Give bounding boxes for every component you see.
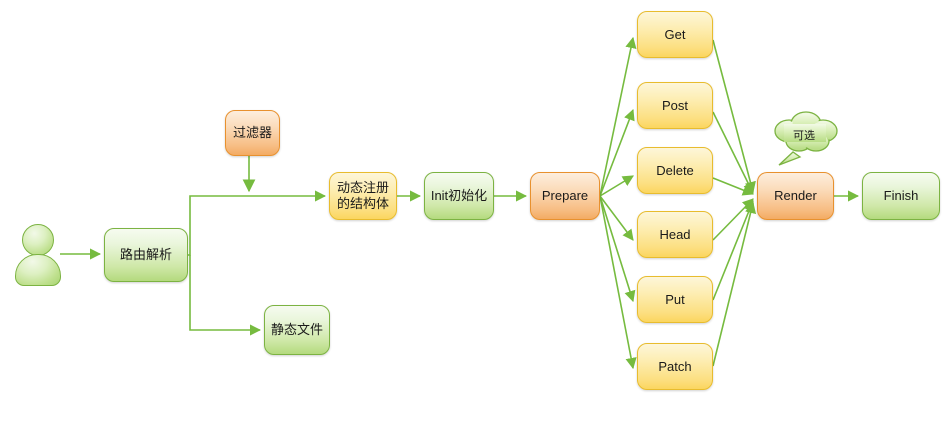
node-label: Head	[659, 227, 690, 243]
edge-route-static	[190, 255, 260, 330]
edge-prepare-head	[600, 196, 633, 240]
node-finish[interactable]: Finish	[862, 172, 940, 220]
node-label: Post	[662, 98, 688, 114]
edge-patch-render	[713, 203, 753, 366]
node-label: 过滤器	[233, 125, 272, 141]
edge-prepare-patch	[600, 196, 633, 368]
edge-put-render	[713, 201, 753, 300]
edge-layer	[0, 0, 951, 448]
node-method-put[interactable]: Put	[637, 276, 713, 323]
node-label: 路由解析	[120, 247, 172, 263]
node-method-delete[interactable]: Delete	[637, 147, 713, 194]
callout-label: 可选	[768, 118, 840, 156]
node-label: Delete	[656, 163, 694, 179]
edge-head-render	[713, 199, 753, 240]
node-init[interactable]: Init初始化	[424, 172, 494, 220]
node-label: Init初始化	[431, 188, 487, 204]
node-prepare[interactable]: Prepare	[530, 172, 600, 220]
callout-optional: 可选	[768, 118, 840, 164]
node-method-patch[interactable]: Patch	[637, 343, 713, 390]
node-label: Finish	[884, 188, 919, 204]
node-method-head[interactable]: Head	[637, 211, 713, 258]
node-label: Prepare	[542, 188, 588, 204]
edge-post-render	[713, 112, 753, 193]
node-render[interactable]: Render	[757, 172, 834, 220]
node-method-get[interactable]: Get	[637, 11, 713, 58]
edge-delete-render	[713, 178, 753, 194]
node-label: Render	[774, 188, 817, 204]
node-filter[interactable]: 过滤器	[225, 110, 280, 156]
node-label: Get	[665, 27, 686, 43]
node-label: 静态文件	[271, 322, 323, 338]
edge-prepare-get	[600, 38, 633, 196]
diagram-canvas: 可选 路由解析 过滤器 静态文件 动态注册 的结构体 Init初始化 Prepa…	[0, 0, 951, 448]
node-label: Patch	[658, 359, 691, 375]
edge-prepare-delete	[600, 176, 633, 196]
edge-route-dynreg	[188, 196, 325, 255]
node-label: 动态注册 的结构体	[337, 180, 389, 212]
actor-head-icon	[22, 224, 54, 256]
edge-get-render	[713, 40, 753, 192]
node-route-parse[interactable]: 路由解析	[104, 228, 188, 282]
node-dynamic-register[interactable]: 动态注册 的结构体	[329, 172, 397, 220]
edge-prepare-post	[600, 110, 633, 196]
user-actor[interactable]	[14, 224, 60, 282]
node-method-post[interactable]: Post	[637, 82, 713, 129]
actor-body-icon	[15, 254, 61, 286]
node-label: Put	[665, 292, 685, 308]
edge-prepare-put	[600, 196, 633, 301]
node-static-files[interactable]: 静态文件	[264, 305, 330, 355]
